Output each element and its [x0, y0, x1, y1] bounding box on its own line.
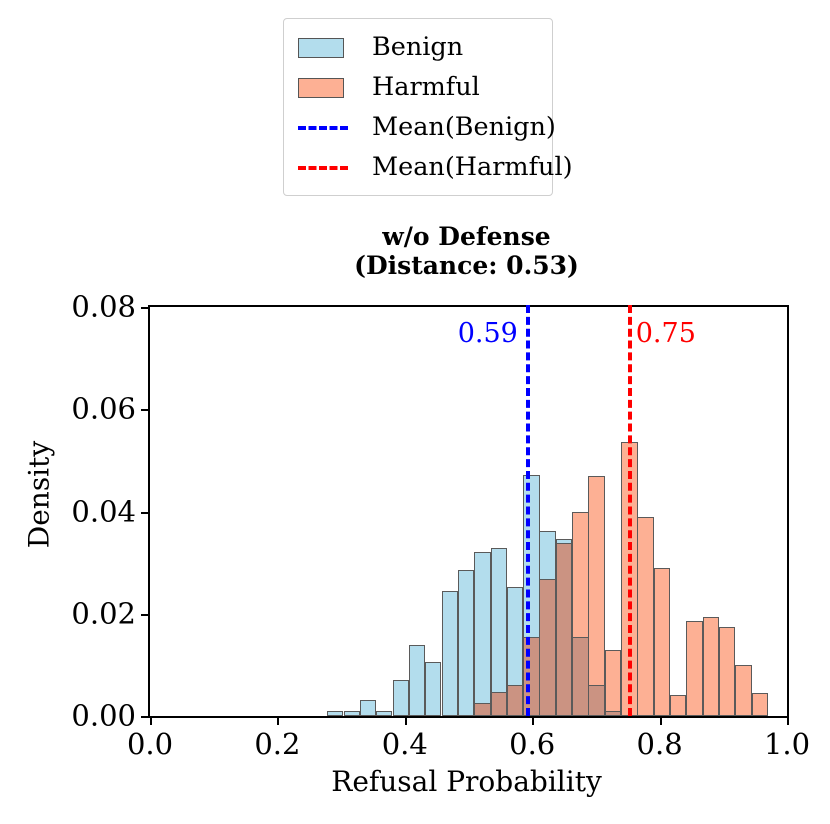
- y-axis-tick-label: 0.08: [71, 293, 136, 322]
- legend-dash-mean-harmful: [298, 166, 360, 170]
- histogram-bar: [344, 711, 360, 716]
- legend-swatch-benign: [298, 38, 360, 58]
- histogram-bar: [588, 476, 604, 716]
- histogram-bar: [735, 665, 751, 716]
- histogram-bar: [491, 548, 507, 716]
- legend-swatch-harmful: [298, 78, 360, 98]
- chart-title-line2: (Distance: 0.53): [148, 251, 785, 280]
- histogram-bar: [327, 711, 343, 716]
- mean-line-benign: [526, 305, 530, 716]
- legend-item-harmful: Harmful: [298, 68, 540, 108]
- y-axis-tick-label: 0.06: [71, 395, 136, 424]
- histogram-bar-overlap: [605, 711, 621, 716]
- x-axis-tick-label: 1.0: [764, 730, 810, 759]
- x-axis-tick: [532, 716, 534, 725]
- histogram-bar: [425, 662, 441, 716]
- histogram-bar: [637, 517, 653, 716]
- y-axis-tick-label: 0.04: [71, 497, 136, 526]
- x-axis-tick: [277, 716, 279, 725]
- x-axis-tick: [405, 716, 407, 725]
- histogram-bar: [703, 617, 719, 716]
- histogram-bars: [150, 307, 787, 716]
- histogram-bar: [474, 552, 490, 716]
- y-axis-tick: [141, 716, 150, 718]
- histogram-bar-overlap: [539, 579, 555, 716]
- chart-title: w/o Defense (Distance: 0.53): [148, 222, 785, 280]
- y-axis-tick-label: 0.02: [71, 599, 136, 628]
- histogram-bar: [670, 695, 686, 716]
- legend-label-mean-benign: Mean(Benign): [360, 115, 556, 141]
- x-axis-tick-label: 0.6: [509, 730, 555, 759]
- x-axis-tick: [660, 716, 662, 725]
- chart-legend: Benign Harmful Mean(Benign) Mean(Harmful…: [283, 18, 553, 196]
- x-axis-tick: [150, 716, 152, 725]
- mean-value-label-benign: 0.59: [458, 320, 518, 347]
- histogram-bar: [719, 627, 735, 716]
- mean-line-harmful: [628, 305, 632, 716]
- x-axis-tick: [787, 716, 789, 725]
- histogram-bar: [360, 700, 376, 716]
- legend-item-mean-harmful: Mean(Harmful): [298, 148, 540, 188]
- histogram-bar: [376, 711, 392, 716]
- histogram-bar-overlap: [491, 692, 507, 716]
- legend-item-mean-benign: Mean(Benign): [298, 108, 540, 148]
- histogram-bar-overlap: [588, 685, 604, 716]
- histogram-bar: [654, 568, 670, 716]
- histogram-bar: [686, 621, 702, 716]
- legend-label-harmful: Harmful: [360, 75, 480, 101]
- histogram-bar: [458, 570, 474, 716]
- y-axis-tick: [141, 512, 150, 514]
- histogram-bar: [605, 650, 621, 716]
- histogram-bar-overlap: [556, 543, 572, 716]
- legend-label-mean-harmful: Mean(Harmful): [360, 155, 573, 181]
- legend-label-benign: Benign: [360, 35, 463, 61]
- histogram-bar: [393, 680, 409, 716]
- histogram-bar: [752, 693, 768, 716]
- mean-value-label-harmful: 0.75: [636, 320, 696, 347]
- y-axis-label: Density: [23, 415, 56, 575]
- histogram-bar: [409, 645, 425, 716]
- x-axis-tick-label: 0.2: [254, 730, 300, 759]
- y-axis-tick: [141, 307, 150, 309]
- histogram-bar: [442, 591, 458, 716]
- histogram-bar-overlap: [474, 703, 490, 716]
- histogram-bar-overlap: [507, 685, 523, 716]
- x-axis-label: Refusal Probability: [148, 765, 785, 798]
- x-axis-tick-label: 0.0: [127, 730, 173, 759]
- chart-title-line1: w/o Defense: [148, 222, 785, 251]
- legend-dash-mean-benign: [298, 126, 360, 130]
- histogram-bar-overlap: [572, 637, 588, 716]
- plot-area: 0.590.750.000.020.040.060.080.00.20.40.6…: [148, 305, 789, 718]
- x-axis-tick-label: 0.8: [637, 730, 683, 759]
- x-axis-tick-label: 0.4: [382, 730, 428, 759]
- y-axis-tick: [141, 409, 150, 411]
- y-axis-tick: [141, 614, 150, 616]
- legend-item-benign: Benign: [298, 28, 540, 68]
